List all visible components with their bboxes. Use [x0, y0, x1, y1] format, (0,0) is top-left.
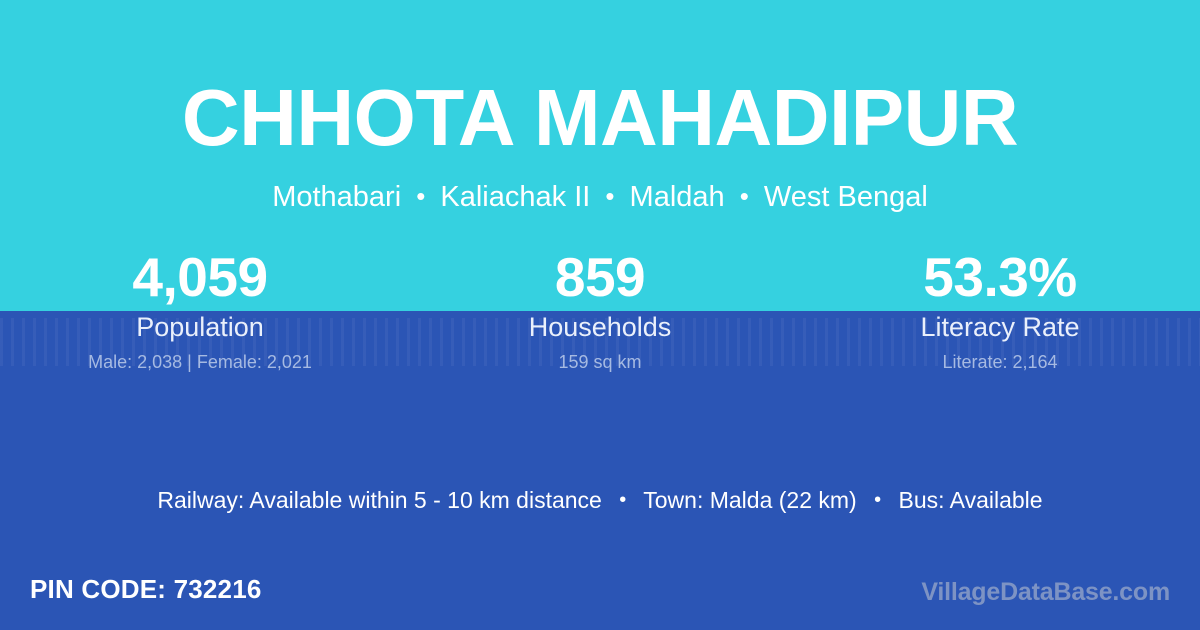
stat-households: 859 Households 159 sq km — [400, 248, 800, 373]
stat-value: 53.3% — [800, 248, 1200, 306]
breadcrumb-item-block: Mothabari — [272, 181, 401, 213]
breadcrumb-item-state: West Bengal — [764, 181, 928, 213]
stat-sub-detail: 159 sq km — [400, 351, 800, 373]
breadcrumb: Mothabari • Kaliachak II • Maldah • West… — [0, 182, 1200, 214]
breadcrumb-separator-icon: • — [598, 181, 621, 211]
stat-value: 4,059 — [0, 248, 400, 306]
transport-bus: Bus: Available — [899, 487, 1043, 513]
stat-value: 859 — [400, 248, 800, 306]
breadcrumb-separator-icon: • — [733, 181, 756, 211]
pin-code: PIN CODE: 732216 — [30, 572, 262, 606]
village-info-card: CHHOTA MAHADIPUR Mothabari • Kaliachak I… — [0, 0, 1200, 630]
transport-separator-icon: • — [608, 489, 637, 511]
page-title: CHHOTA MAHADIPUR — [0, 78, 1200, 158]
transport-info-line: Railway: Available within 5 - 10 km dist… — [0, 485, 1200, 515]
stat-sub-detail: Literate: 2,164 — [800, 351, 1200, 373]
transport-railway: Railway: Available within 5 - 10 km dist… — [157, 487, 601, 513]
transport-separator-icon: • — [863, 489, 892, 511]
statistics-row: 4,059 Population Male: 2,038 | Female: 2… — [0, 248, 1200, 373]
stat-population: 4,059 Population Male: 2,038 | Female: 2… — [0, 248, 400, 373]
breadcrumb-item-district: Maldah — [630, 181, 725, 213]
stat-label: Literacy Rate — [800, 312, 1200, 342]
breadcrumb-item-subdistrict: Kaliachak II — [440, 181, 590, 213]
stat-literacy-rate: 53.3% Literacy Rate Literate: 2,164 — [800, 248, 1200, 373]
transport-town: Town: Malda (22 km) — [643, 487, 856, 513]
breadcrumb-separator-icon: • — [409, 181, 432, 211]
site-branding: VillageDataBase.com — [921, 576, 1170, 608]
stat-sub-detail: Male: 2,038 | Female: 2,021 — [0, 351, 400, 373]
stat-label: Households — [400, 312, 800, 342]
stat-label: Population — [0, 312, 400, 342]
